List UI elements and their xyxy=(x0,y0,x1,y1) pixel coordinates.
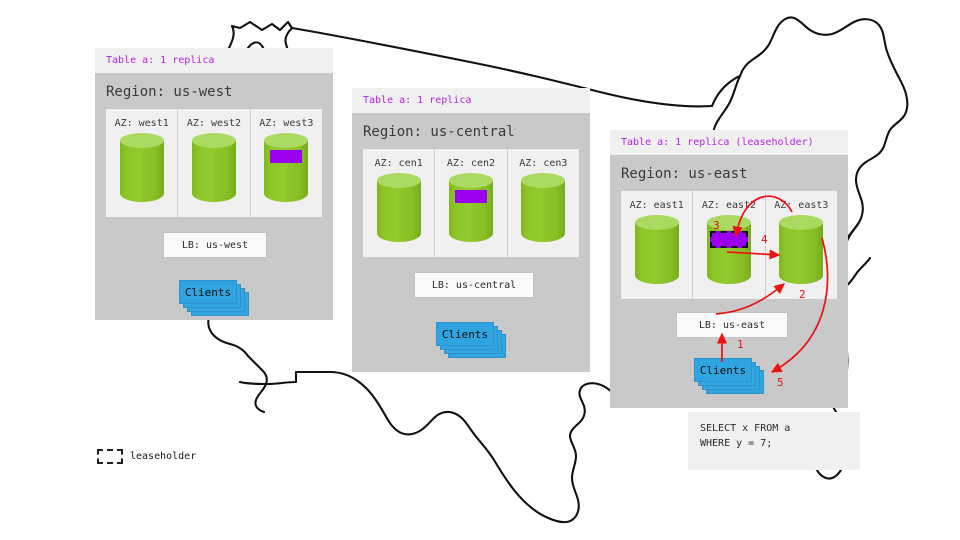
node-cylinder-east3 xyxy=(779,222,823,284)
cylinder-top xyxy=(635,215,679,230)
clients-label-us-central[interactable]: Clients xyxy=(436,322,494,346)
legend-label-leaseholder: leaseholder xyxy=(130,451,196,462)
az-label-east1: AZ: east1 xyxy=(630,200,684,211)
load-balancer-us-west[interactable]: LB: us-west xyxy=(163,232,267,258)
region-panel-us-east: Table a: 1 replica (leaseholder) Region:… xyxy=(610,130,848,408)
cylinder-top xyxy=(120,133,164,148)
cylinder-top xyxy=(779,215,823,230)
cylinder-body xyxy=(192,140,236,202)
clients-stack-us-west[interactable]: Clients xyxy=(179,280,251,316)
node-cylinder-cen2 xyxy=(449,180,493,242)
az-cell-east1[interactable]: AZ: east1 xyxy=(621,191,693,299)
az-row-us-west: AZ: west1 AZ: west2 AZ: west3 xyxy=(106,109,322,217)
az-cell-east3[interactable]: AZ: east3 xyxy=(766,191,837,299)
clients-label-us-west[interactable]: Clients xyxy=(179,280,237,304)
clients-label-us-east[interactable]: Clients xyxy=(694,358,752,382)
node-cylinder-east1 xyxy=(635,222,679,284)
az-cell-west2[interactable]: AZ: west2 xyxy=(178,109,250,217)
az-label-east2: AZ: east2 xyxy=(702,200,756,211)
node-cylinder-cen1 xyxy=(377,180,421,242)
clients-stack-us-central[interactable]: Clients xyxy=(436,322,508,358)
az-label-cen1: AZ: cen1 xyxy=(375,158,423,169)
cylinder-body xyxy=(120,140,164,202)
node-cylinder-west3 xyxy=(264,140,308,202)
leaseholder-marker-east2 xyxy=(710,231,748,248)
node-cylinder-west2 xyxy=(192,140,236,202)
az-cell-west1[interactable]: AZ: west1 xyxy=(106,109,178,217)
az-row-us-central: AZ: cen1 AZ: cen2 AZ: cen3 xyxy=(363,149,579,257)
region-title-us-east: Region: us-east xyxy=(610,155,848,191)
az-cell-east2[interactable]: AZ: east2 xyxy=(693,191,765,299)
sql-statement-box: SELECT x FROM a WHERE y = 7; xyxy=(688,412,860,470)
az-cell-west3[interactable]: AZ: west3 xyxy=(251,109,322,217)
panel-header-us-central: Table a: 1 replica xyxy=(352,88,590,113)
region-panel-us-west: Table a: 1 replica Region: us-west AZ: w… xyxy=(95,48,333,320)
leaseholder-marker-cen2 xyxy=(455,190,487,203)
node-cylinder-cen3 xyxy=(521,180,565,242)
leaseholder-swatch-icon xyxy=(97,449,123,464)
region-title-us-central: Region: us-central xyxy=(352,113,590,149)
diagram-stage: Table a: 1 replica Region: us-west AZ: w… xyxy=(0,0,960,540)
node-cylinder-west1 xyxy=(120,140,164,202)
arrow-number-5: 5 xyxy=(777,376,784,389)
cylinder-body xyxy=(377,180,421,242)
az-label-west2: AZ: west2 xyxy=(187,118,241,129)
legend: leaseholder xyxy=(97,449,196,464)
cylinder-body xyxy=(779,222,823,284)
az-row-us-east: AZ: east1 AZ: east2 AZ: east3 xyxy=(621,191,837,299)
cylinder-top xyxy=(192,133,236,148)
az-cell-cen2[interactable]: AZ: cen2 xyxy=(435,149,507,257)
cylinder-body xyxy=(635,222,679,284)
cylinder-top xyxy=(264,133,308,148)
load-balancer-us-east[interactable]: LB: us-east xyxy=(676,312,788,338)
az-label-cen2: AZ: cen2 xyxy=(447,158,495,169)
cylinder-top xyxy=(521,173,565,188)
region-panel-us-central: Table a: 1 replica Region: us-central AZ… xyxy=(352,88,590,372)
arrow-number-3: 3 xyxy=(713,219,720,232)
region-title-us-west: Region: us-west xyxy=(95,73,333,109)
az-label-cen3: AZ: cen3 xyxy=(519,158,567,169)
arrow-number-1: 1 xyxy=(737,338,744,351)
leaseholder-marker-west3 xyxy=(270,150,302,163)
arrow-number-4: 4 xyxy=(761,233,768,246)
cylinder-top xyxy=(377,173,421,188)
cylinder-top xyxy=(449,173,493,188)
panel-header-us-west: Table a: 1 replica xyxy=(95,48,333,73)
az-label-west1: AZ: west1 xyxy=(115,118,169,129)
cylinder-body xyxy=(521,180,565,242)
az-label-west3: AZ: west3 xyxy=(259,118,313,129)
panel-header-us-east: Table a: 1 replica (leaseholder) xyxy=(610,130,848,155)
az-label-east3: AZ: east3 xyxy=(774,200,828,211)
load-balancer-us-central[interactable]: LB: us-central xyxy=(414,272,534,298)
az-cell-cen1[interactable]: AZ: cen1 xyxy=(363,149,435,257)
az-cell-cen3[interactable]: AZ: cen3 xyxy=(508,149,579,257)
clients-stack-us-east[interactable]: Clients xyxy=(694,358,766,394)
arrow-number-2: 2 xyxy=(799,288,806,301)
